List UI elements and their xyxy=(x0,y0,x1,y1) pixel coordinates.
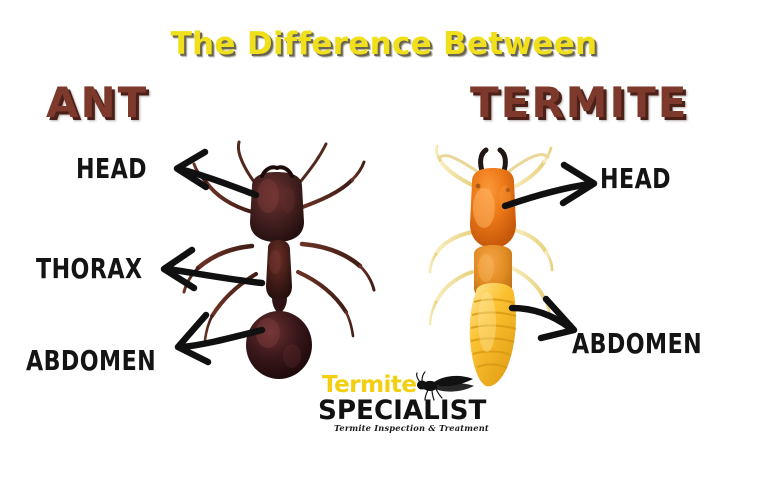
logo-tagline: Termite Inspection & Treatment xyxy=(334,424,489,433)
label-termite-abdomen: ABDOMEN xyxy=(572,327,702,360)
ant-photo xyxy=(184,142,374,379)
column-heading-termite: TERMITE xyxy=(470,78,688,127)
arrow-right-termite-head xyxy=(505,165,594,206)
arrow-left-ant-thorax xyxy=(164,250,262,288)
brand-logo[interactable]: Termite SPECIALIST Termite Inspection & … xyxy=(312,372,472,448)
arrow-right-termite-abdomen xyxy=(512,299,574,338)
column-heading-ant: ANT xyxy=(46,78,148,127)
label-ant-abdomen: ABDOMEN xyxy=(26,344,156,377)
label-termite-head: HEAD xyxy=(600,162,671,195)
label-ant-head: HEAD xyxy=(76,152,147,185)
logo-word-specialist: SPECIALIST xyxy=(318,395,486,426)
arrow-left-ant-head xyxy=(177,152,256,195)
arrow-left-ant-abdomen xyxy=(178,315,262,362)
page-title: The Difference Between xyxy=(0,26,768,62)
termite-photo xyxy=(430,146,552,386)
infographic-canvas: The Difference Between ANT TERMITE xyxy=(0,0,768,480)
label-ant-thorax: THORAX xyxy=(36,252,142,285)
